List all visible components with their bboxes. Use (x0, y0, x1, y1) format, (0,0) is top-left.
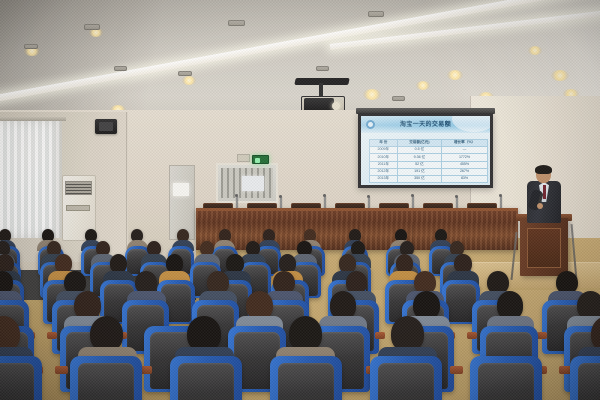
slide-table-cell: 350 亿 (397, 175, 441, 182)
slide-table-cell: 2013年 (370, 175, 398, 182)
microphone-icon (368, 197, 370, 208)
slide-table-row: 2013年350 亿83% (370, 175, 488, 182)
slide-title: 淘宝一天的交易额 (361, 119, 490, 128)
slide-table-body: 2009年0.5 亿—2010年9.36 亿1772%2011年52 亿455%… (370, 147, 488, 183)
slide-table-cell: 2010年 (370, 154, 398, 161)
seat-armrest (55, 366, 68, 375)
slide-table-cell: 2011年 (370, 161, 398, 168)
ceiling-vent-icon (228, 20, 245, 26)
auditorium-seat[interactable] (270, 356, 342, 400)
microphone-icon (280, 197, 282, 208)
slide-table-cell: 1772% (442, 154, 488, 161)
slide-table-cell: 191 亿 (397, 168, 441, 175)
seat-backrest-pad (78, 363, 134, 400)
ac-grille-icon (65, 181, 92, 195)
slide-table-cell: 83% (442, 175, 488, 182)
ceiling-vent-icon (392, 96, 405, 101)
projection-screen: 淘宝一天的交易额 年 份交易额(亿元)增长率（%） 2009年0.5 亿—201… (358, 113, 493, 188)
projector-arm (319, 83, 323, 97)
seat-backrest-pad (478, 363, 534, 400)
downlight-icon (182, 76, 196, 85)
slide-table-cell: 9.36 亿 (397, 154, 441, 161)
auditorium-seat[interactable] (170, 356, 242, 400)
downlight-icon (528, 46, 542, 55)
ceiling-vent-icon (84, 24, 100, 30)
downlight-icon (447, 70, 463, 80)
slide-table-header-row: 年 份交易额(亿元)增长率（%） (370, 140, 488, 147)
lectern-front-panel (527, 228, 561, 268)
slide-table-row: 2011年52 亿455% (370, 161, 488, 168)
slide-table-cell: — (442, 147, 488, 154)
ceiling-vent-icon (316, 66, 329, 71)
seat-armrest (467, 332, 477, 339)
curtain (0, 120, 62, 238)
slide-table-cell: 0.5 亿 (397, 147, 441, 154)
auditorium-photo: 淘宝一天的交易额 年 份交易额(亿元)增长率（%） 2009年0.5 亿—201… (0, 0, 600, 400)
wall-speaker-icon (95, 119, 117, 134)
doorway-light (173, 183, 189, 196)
auditorium-seat[interactable] (570, 356, 600, 400)
presenter (524, 166, 564, 222)
ac-control-panel (66, 205, 90, 211)
slide-table-col-header: 交易额(亿元) (397, 140, 441, 147)
ceiling-vent-icon (114, 66, 127, 71)
auditorium-seat[interactable] (70, 356, 142, 400)
presenter-tie (543, 185, 546, 199)
presentation-slide: 淘宝一天的交易额 年 份交易额(亿元)增长率（%） 2009年0.5 亿—201… (361, 116, 490, 185)
microphone-icon (456, 197, 458, 208)
seat-backrest-pad (378, 363, 434, 400)
downlight-icon (551, 70, 569, 81)
exit-sign-icon (252, 155, 269, 164)
wall-corner-seam (126, 112, 127, 262)
auditorium-seat[interactable] (0, 356, 42, 400)
auditorium-seat[interactable] (470, 356, 542, 400)
slide-table-row: 2009年0.5 亿— (370, 147, 488, 154)
slide-table-cell: 52 亿 (397, 161, 441, 168)
seat-armrest (450, 366, 463, 375)
projector-lens-icon (332, 102, 340, 110)
exit-sign-bracket (237, 154, 250, 162)
slide-table-row: 2012年191 亿267% (370, 168, 488, 175)
ceiling-vent-icon (24, 44, 38, 49)
slide-table-cell: 2009年 (370, 147, 398, 154)
ceiling-vent-icon (368, 11, 384, 17)
seat-backrest-pad (178, 363, 234, 400)
louvre-window (216, 163, 278, 203)
seat-backrest-pad (0, 363, 34, 400)
presenter-hand (537, 203, 543, 209)
ceiling-vent-icon (178, 71, 192, 76)
slide-table-col-header: 增长率（%） (442, 140, 488, 147)
seat-armrest (537, 332, 547, 339)
slide-table: 年 份交易额(亿元)增长率（%） 2009年0.5 亿—2010年9.36 亿1… (369, 139, 488, 183)
presenter-hair (535, 165, 552, 174)
auditorium-seat[interactable] (370, 356, 442, 400)
slide-header-band: 淘宝一天的交易额 (361, 116, 490, 133)
slide-table-col-header: 年 份 (370, 140, 398, 147)
slide-table-cell: 455% (442, 161, 488, 168)
slide-table-cell: 2012年 (370, 168, 398, 175)
slide-table-cell: 267% (442, 168, 488, 175)
seat-backrest-pad (578, 363, 600, 400)
slide-table-row: 2010年9.36 亿1772% (370, 154, 488, 161)
curtain-rod (0, 117, 66, 121)
seat-backrest-pad (278, 363, 334, 400)
downlight-icon (416, 81, 430, 90)
downlight-icon (363, 89, 381, 100)
seat-armrest (375, 332, 385, 339)
seat-armrest (47, 332, 57, 339)
